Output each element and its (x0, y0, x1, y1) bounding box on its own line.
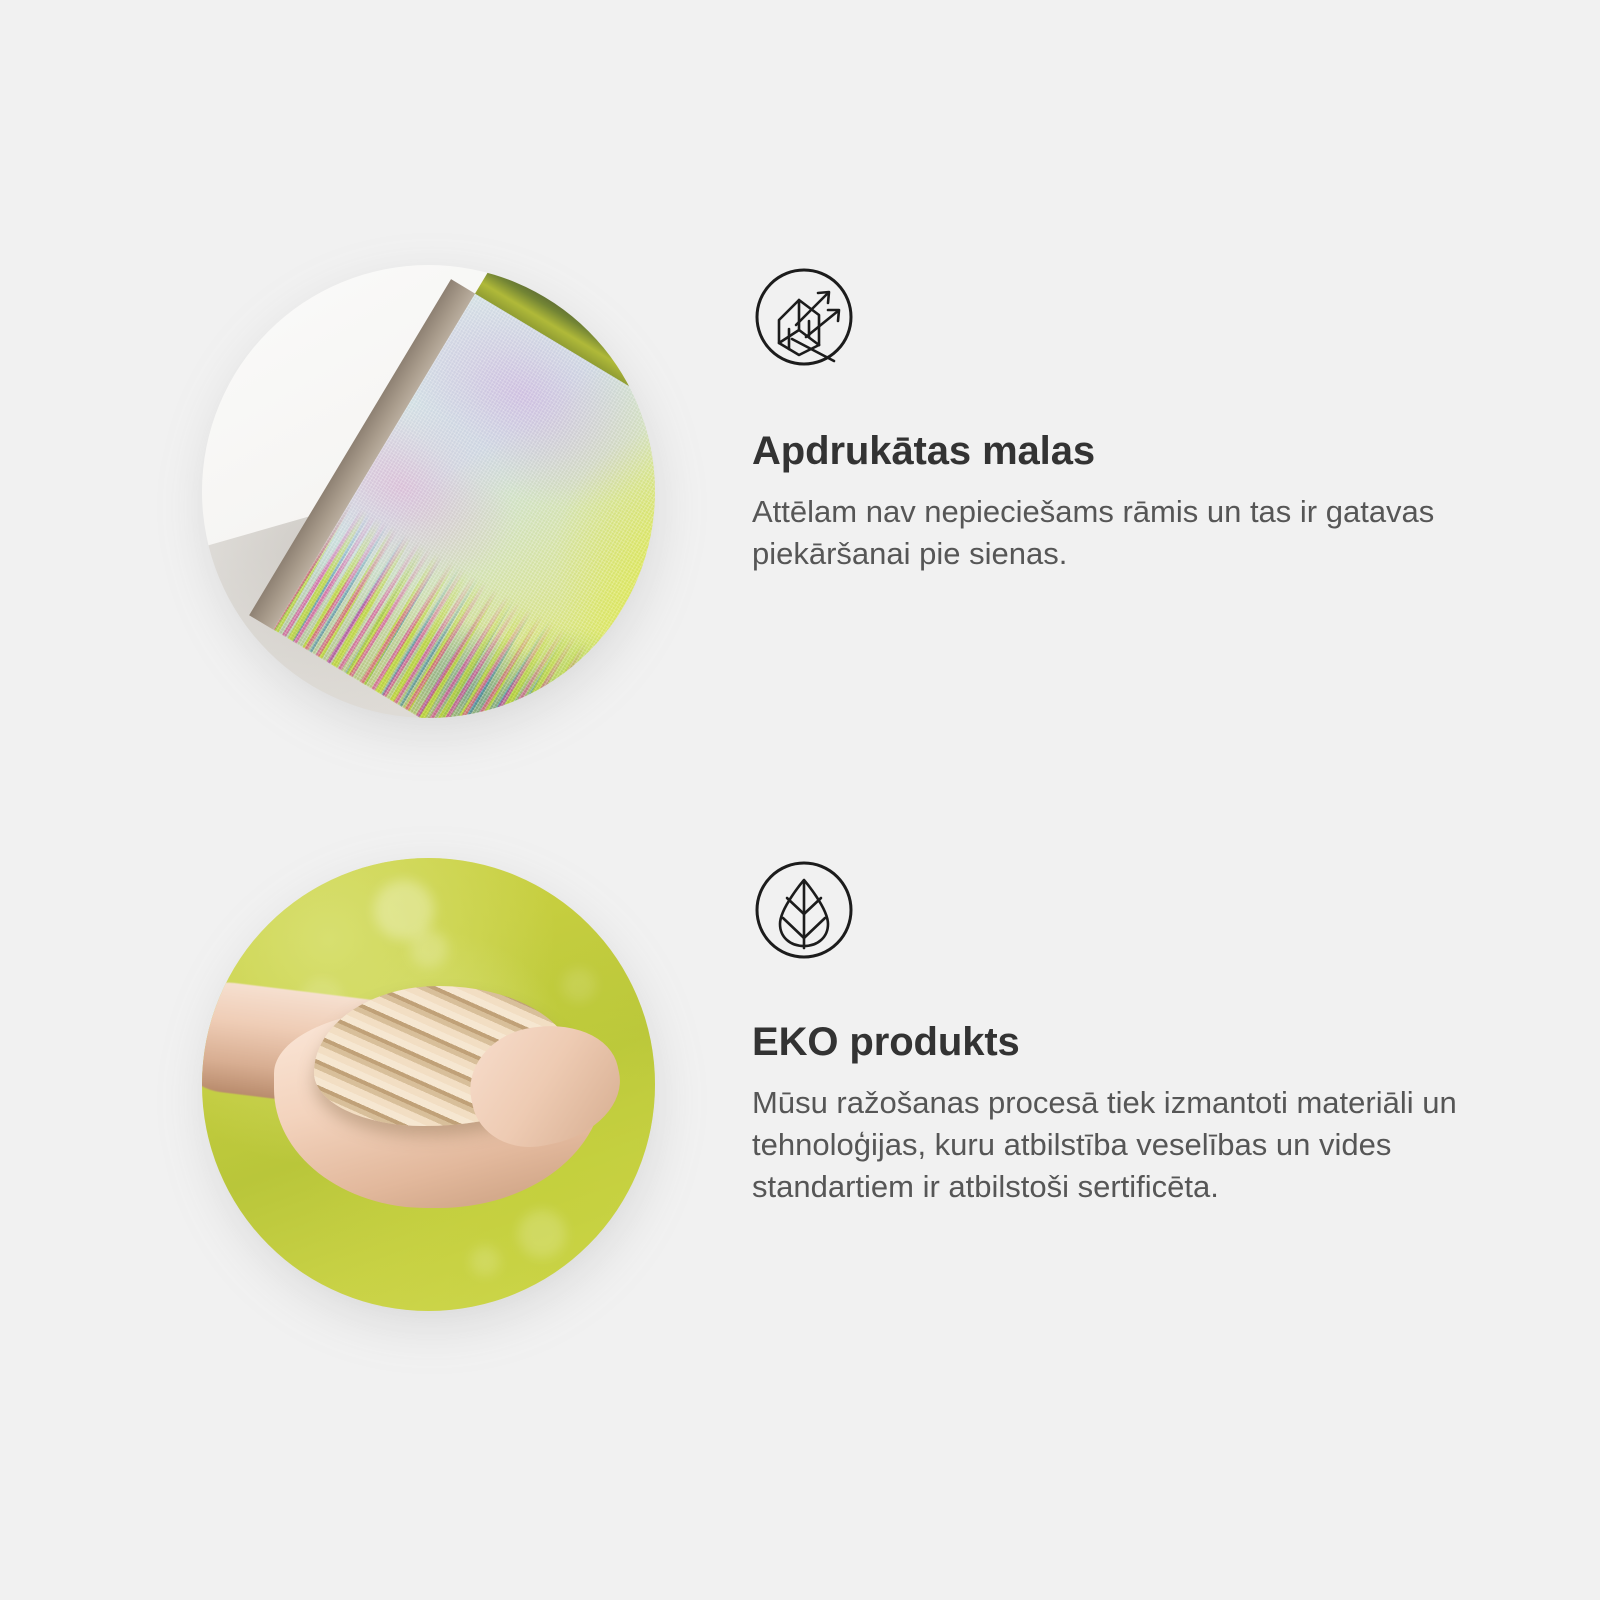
feature-block-printed-edges: Apdrukātas malas Attēlam nav nepieciešam… (0, 265, 1600, 718)
feature-title: EKO produkts (752, 1020, 1600, 1064)
canvas-corner-photo (202, 265, 655, 718)
feature-title: Apdrukātas malas (752, 429, 1600, 473)
feature-content: Apdrukātas malas Attēlam nav nepieciešam… (655, 265, 1600, 575)
wood-chips-in-hands-photo (202, 858, 655, 1311)
feature-description: Mūsu ražošanas procesā tiek izmantoti ma… (752, 1082, 1467, 1208)
feature-content: EKO produkts Mūsu ražošanas procesā tiek… (655, 858, 1600, 1208)
product-features-page: Apdrukātas malas Attēlam nav nepieciešam… (0, 0, 1600, 1600)
leaf-icon (752, 858, 856, 962)
feature-description: Attēlam nav nepieciešams rāmis un tas ir… (752, 491, 1472, 575)
feature-block-eco-product: EKO produkts Mūsu ražošanas procesā tiek… (0, 858, 1600, 1311)
printed-edges-icon (752, 265, 856, 369)
